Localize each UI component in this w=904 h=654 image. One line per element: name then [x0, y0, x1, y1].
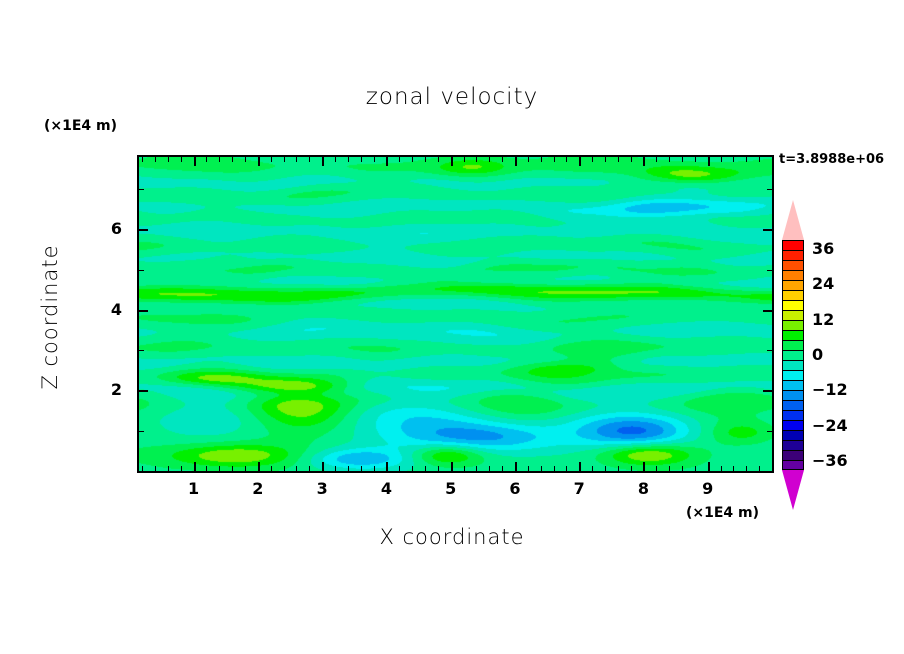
- axis-tick: [656, 157, 657, 162]
- y-tick-label: 6: [96, 219, 122, 238]
- x-axis-unit-label: (×1E4 m): [686, 505, 759, 521]
- axis-tick: [322, 157, 324, 166]
- axis-tick: [206, 157, 207, 162]
- axis-tick: [767, 270, 772, 271]
- axis-tick: [258, 462, 260, 471]
- axis-tick: [142, 466, 143, 471]
- axis-tick: [502, 466, 503, 471]
- axis-tick: [579, 462, 581, 471]
- axis-tick: [412, 466, 413, 471]
- y-axis-title: Z coordinate: [38, 207, 62, 427]
- axis-tick: [258, 157, 260, 166]
- axis-tick: [142, 157, 143, 162]
- axis-tick: [605, 157, 606, 162]
- axis-tick: [296, 157, 297, 162]
- axis-tick: [554, 157, 555, 162]
- contour-plot-area: [137, 155, 774, 473]
- axis-tick: [528, 157, 529, 162]
- axis-tick: [763, 310, 772, 312]
- axis-tick: [643, 157, 645, 166]
- axis-tick: [348, 466, 349, 471]
- colorbar-band: [782, 280, 804, 290]
- colorbar-band: [782, 320, 804, 330]
- axis-tick: [194, 462, 196, 471]
- axis-tick: [746, 157, 747, 162]
- axis-tick: [219, 157, 220, 162]
- colorbar-band: [782, 250, 804, 260]
- axis-tick: [618, 466, 619, 471]
- axis-tick: [232, 466, 233, 471]
- axis-tick: [425, 157, 426, 162]
- x-tick-label: 2: [238, 479, 278, 498]
- colorbar-label: 36: [812, 239, 834, 258]
- axis-tick: [721, 466, 722, 471]
- axis-tick: [168, 466, 169, 471]
- axis-tick: [515, 462, 517, 471]
- axis-tick: [733, 157, 734, 162]
- axis-tick: [489, 466, 490, 471]
- axis-tick: [476, 157, 477, 162]
- colorbar-band: [782, 440, 804, 450]
- x-tick-label: 1: [174, 479, 214, 498]
- colorbar-band: [782, 240, 804, 250]
- axis-tick: [181, 157, 182, 162]
- colorbar-label: 12: [812, 310, 834, 329]
- axis-tick: [759, 157, 760, 162]
- axis-tick: [181, 466, 182, 471]
- velocity-field-canvas: [139, 157, 772, 471]
- axis-tick: [438, 157, 439, 162]
- colorbar-over-arrow: [782, 200, 804, 240]
- axis-tick: [631, 157, 632, 162]
- colorbar-band: [782, 330, 804, 340]
- axis-tick: [139, 350, 144, 351]
- axis-tick: [763, 229, 772, 231]
- axis-tick: [541, 157, 542, 162]
- axis-tick: [643, 462, 645, 471]
- x-tick-label: 8: [623, 479, 663, 498]
- axis-tick: [139, 270, 144, 271]
- colorbar-under-arrow: [782, 470, 804, 510]
- axis-tick: [767, 189, 772, 190]
- axis-tick: [708, 157, 710, 166]
- colorbar-band: [782, 370, 804, 380]
- axis-tick: [438, 466, 439, 471]
- axis-tick: [139, 390, 148, 392]
- x-tick-label: 6: [495, 479, 535, 498]
- axis-tick: [374, 466, 375, 471]
- axis-tick: [708, 462, 710, 471]
- colorbar-band: [782, 460, 804, 470]
- axis-tick: [566, 466, 567, 471]
- axis-tick: [348, 157, 349, 162]
- page-title: zonal velocity: [0, 84, 904, 110]
- axis-tick: [695, 466, 696, 471]
- axis-tick: [296, 466, 297, 471]
- axis-tick: [309, 466, 310, 471]
- axis-tick: [245, 157, 246, 162]
- axis-tick: [284, 157, 285, 162]
- colorbar-band: [782, 410, 804, 420]
- colorbar-band: [782, 310, 804, 320]
- axis-tick: [245, 466, 246, 471]
- axis-tick: [592, 466, 593, 471]
- axis-tick: [682, 157, 683, 162]
- axis-tick: [206, 466, 207, 471]
- axis-tick: [168, 157, 169, 162]
- axis-tick: [669, 466, 670, 471]
- y-axis-unit-label: (×1E4 m): [44, 118, 117, 134]
- axis-tick: [322, 462, 324, 471]
- colorbar-band: [782, 270, 804, 280]
- axis-tick: [374, 157, 375, 162]
- axis-tick: [489, 157, 490, 162]
- colorbar-label: 0: [812, 345, 823, 364]
- axis-tick: [605, 466, 606, 471]
- axis-tick: [763, 390, 772, 392]
- colorbar-band: [782, 420, 804, 430]
- x-tick-label: 5: [431, 479, 471, 498]
- colorbar-label: −24: [812, 416, 848, 435]
- axis-tick: [515, 157, 517, 166]
- timestamp-annotation: t=3.8988e+06: [779, 152, 884, 167]
- axis-tick: [271, 157, 272, 162]
- axis-tick: [335, 157, 336, 162]
- colorbar-label: −36: [812, 451, 848, 470]
- axis-tick: [155, 466, 156, 471]
- axis-tick: [767, 350, 772, 351]
- colorbar-band: [782, 260, 804, 270]
- x-axis-title: X coordinate: [0, 525, 904, 549]
- x-tick-label: 4: [366, 479, 406, 498]
- axis-tick: [361, 466, 362, 471]
- axis-tick: [139, 431, 144, 432]
- axis-tick: [631, 466, 632, 471]
- colorbar-band: [782, 290, 804, 300]
- axis-tick: [767, 431, 772, 432]
- colorbar-band: [782, 380, 804, 390]
- axis-tick: [618, 157, 619, 162]
- x-tick-label: 9: [688, 479, 728, 498]
- colorbar-band: [782, 430, 804, 440]
- axis-tick: [502, 157, 503, 162]
- axis-tick: [592, 157, 593, 162]
- y-tick-label: 2: [96, 380, 122, 399]
- axis-tick: [476, 466, 477, 471]
- axis-tick: [399, 466, 400, 471]
- axis-tick: [271, 466, 272, 471]
- colorbar-label: 24: [812, 274, 834, 293]
- axis-tick: [746, 466, 747, 471]
- axis-tick: [579, 157, 581, 166]
- axis-tick: [425, 466, 426, 471]
- colorbar-band: [782, 300, 804, 310]
- colorbar: [782, 240, 804, 470]
- axis-tick: [759, 466, 760, 471]
- axis-tick: [412, 157, 413, 162]
- axis-tick: [464, 157, 465, 162]
- x-tick-label: 3: [302, 479, 342, 498]
- colorbar-band: [782, 450, 804, 460]
- axis-tick: [682, 466, 683, 471]
- axis-tick: [155, 157, 156, 162]
- axis-tick: [361, 157, 362, 162]
- colorbar-band: [782, 400, 804, 410]
- axis-tick: [464, 466, 465, 471]
- axis-tick: [232, 157, 233, 162]
- axis-tick: [566, 157, 567, 162]
- axis-tick: [721, 157, 722, 162]
- axis-tick: [139, 189, 144, 190]
- colorbar-band: [782, 340, 804, 350]
- axis-tick: [399, 157, 400, 162]
- axis-tick: [554, 466, 555, 471]
- axis-tick: [451, 157, 453, 166]
- axis-tick: [669, 157, 670, 162]
- axis-tick: [309, 157, 310, 162]
- axis-tick: [733, 466, 734, 471]
- colorbar-band: [782, 360, 804, 370]
- axis-tick: [284, 466, 285, 471]
- colorbar-band: [782, 350, 804, 360]
- axis-tick: [451, 462, 453, 471]
- axis-tick: [541, 466, 542, 471]
- colorbar-band: [782, 390, 804, 400]
- axis-tick: [386, 157, 388, 166]
- colorbar-label: −12: [812, 380, 848, 399]
- axis-tick: [139, 229, 148, 231]
- axis-tick: [386, 462, 388, 471]
- x-tick-label: 7: [559, 479, 599, 498]
- y-tick-label: 4: [96, 300, 122, 319]
- axis-tick: [335, 466, 336, 471]
- axis-tick: [139, 310, 148, 312]
- axis-tick: [194, 157, 196, 166]
- axis-tick: [695, 157, 696, 162]
- axis-tick: [656, 466, 657, 471]
- axis-tick: [528, 466, 529, 471]
- axis-tick: [219, 466, 220, 471]
